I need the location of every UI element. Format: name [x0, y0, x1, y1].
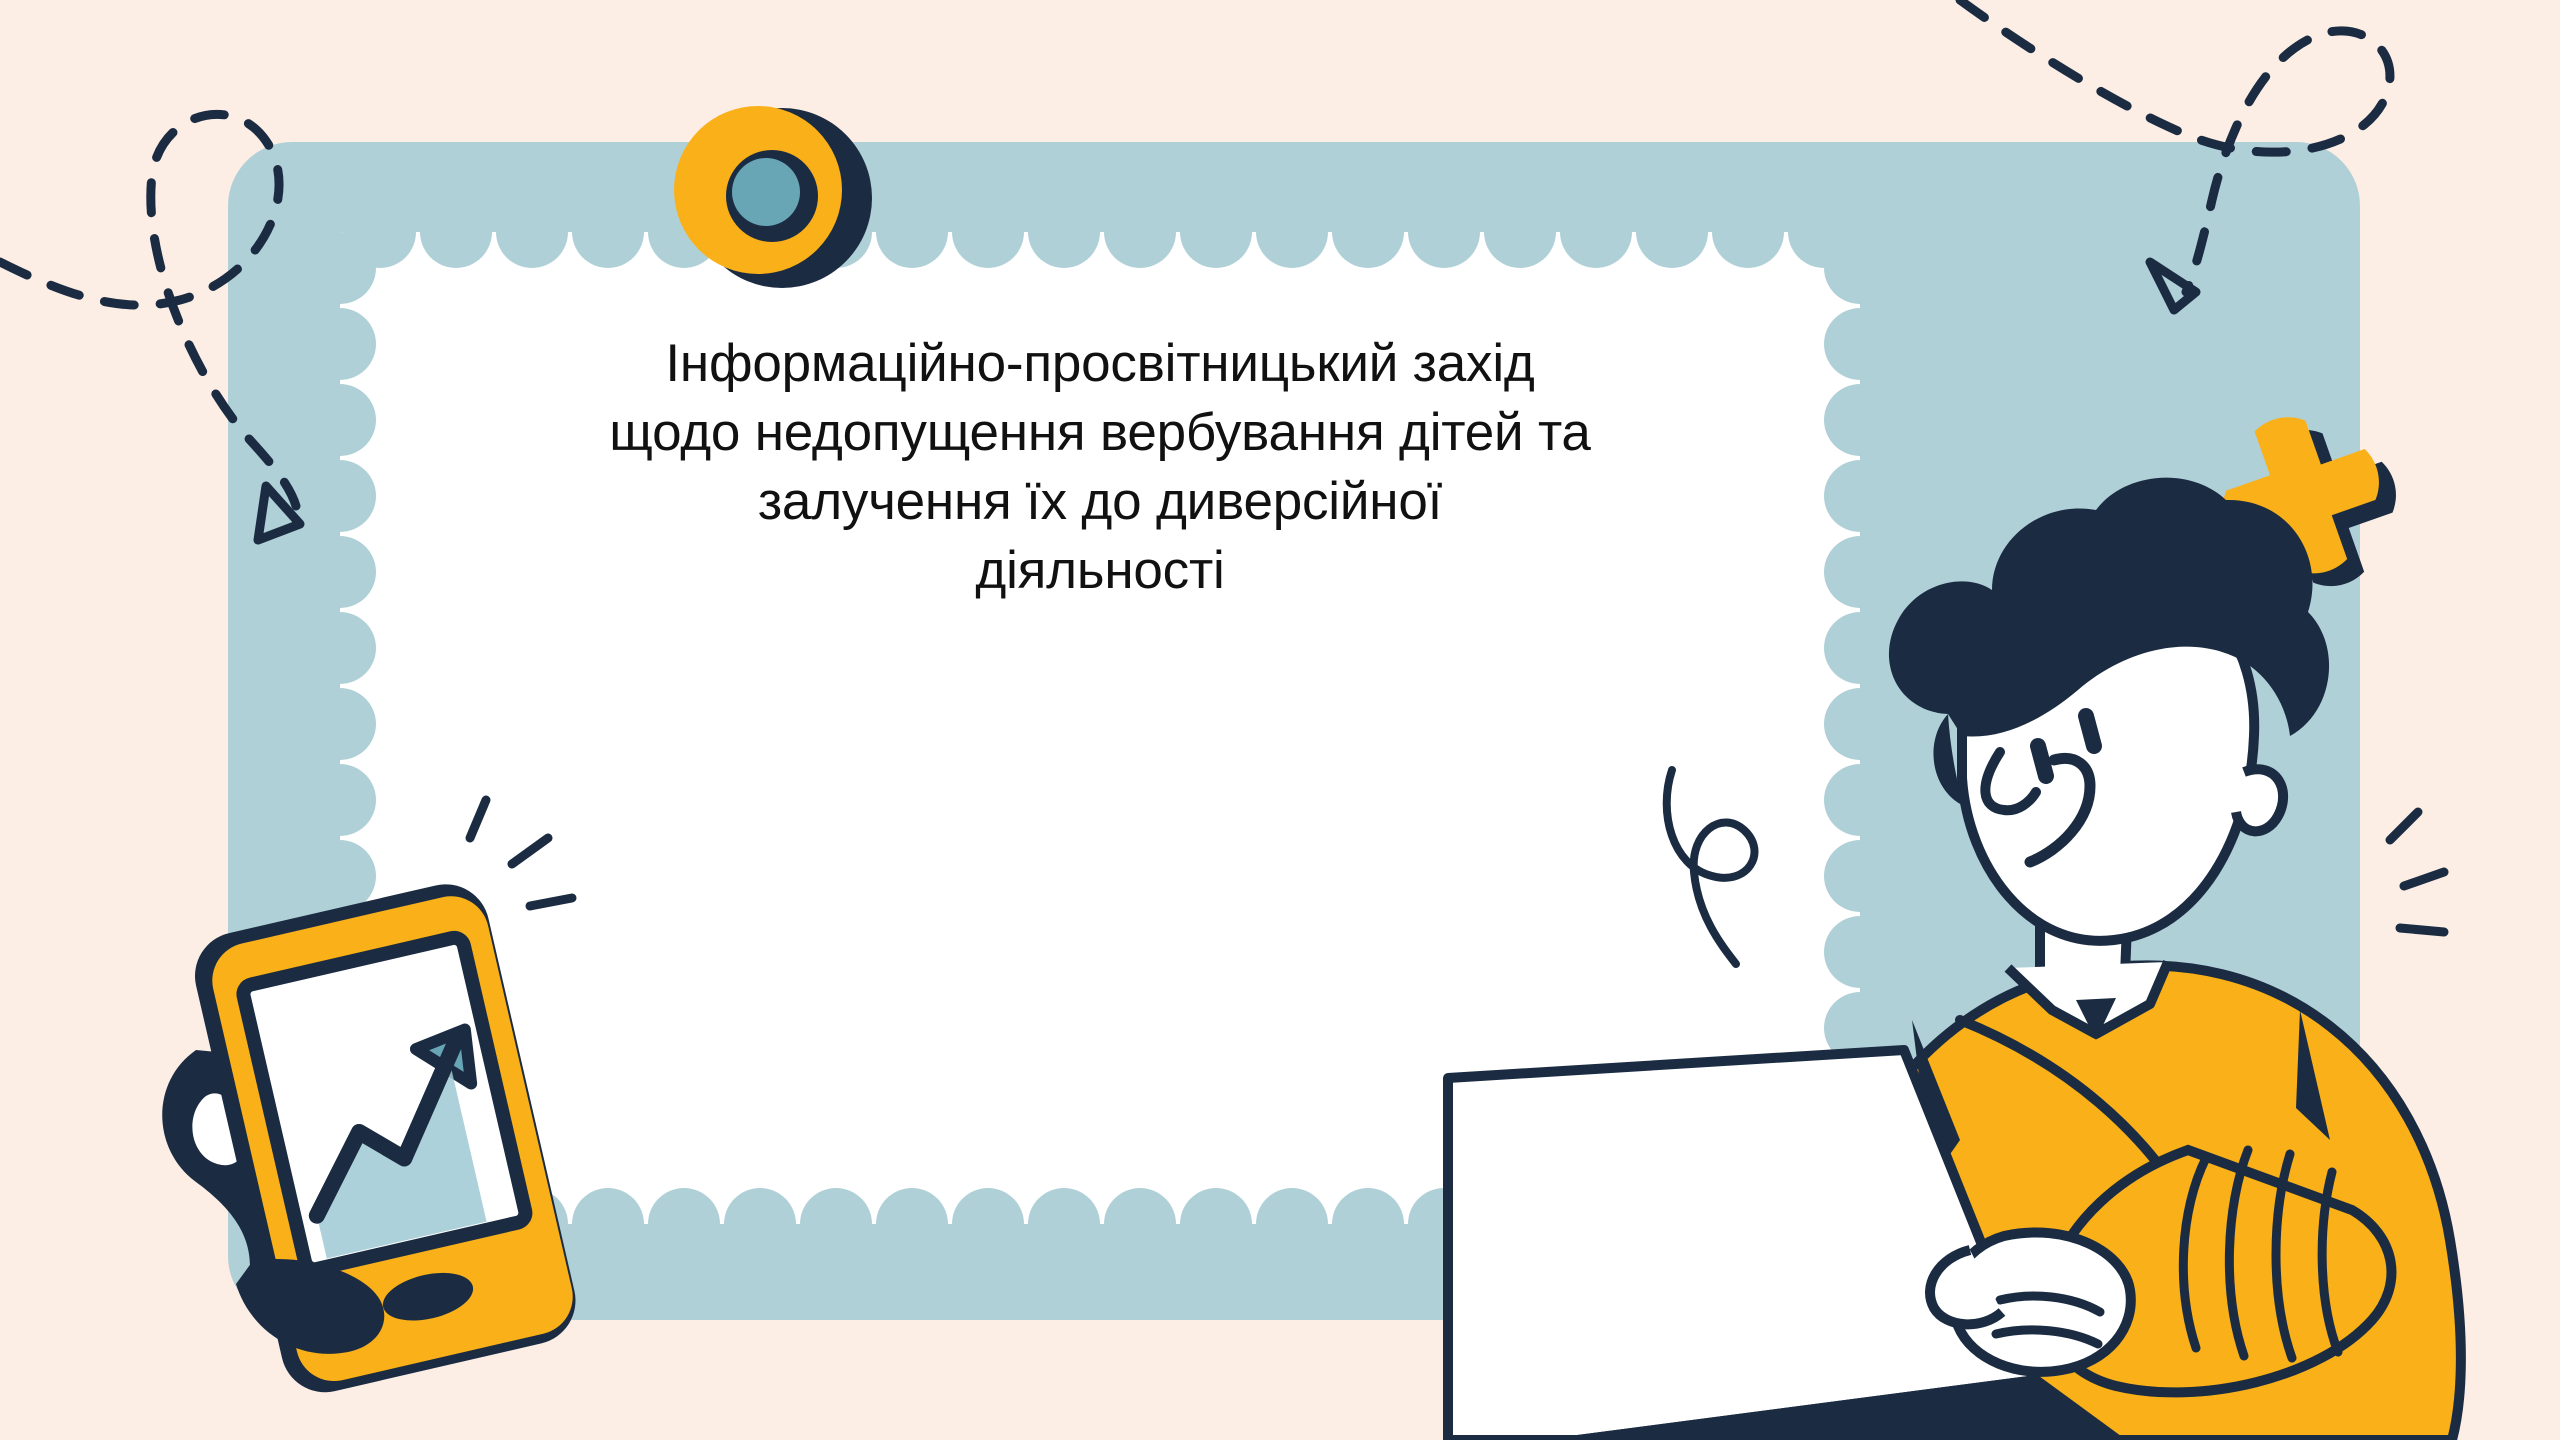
squiggle-icon: [1667, 770, 1755, 964]
slide-canvas: Інформаційно-просвітницький захід щодо н…: [0, 0, 2560, 1440]
sparkle-icon: [470, 800, 572, 906]
sparkle-icon: [2390, 812, 2444, 932]
person-with-laptop-illustration: [1448, 478, 2461, 1440]
decorations-layer: [0, 0, 2560, 1440]
dashed-arrow-icon: [1960, 0, 2390, 310]
phone-chart-illustration: [162, 876, 584, 1401]
dashed-arrow-icon: [0, 114, 300, 540]
yellow-ring-icon: [674, 106, 872, 288]
